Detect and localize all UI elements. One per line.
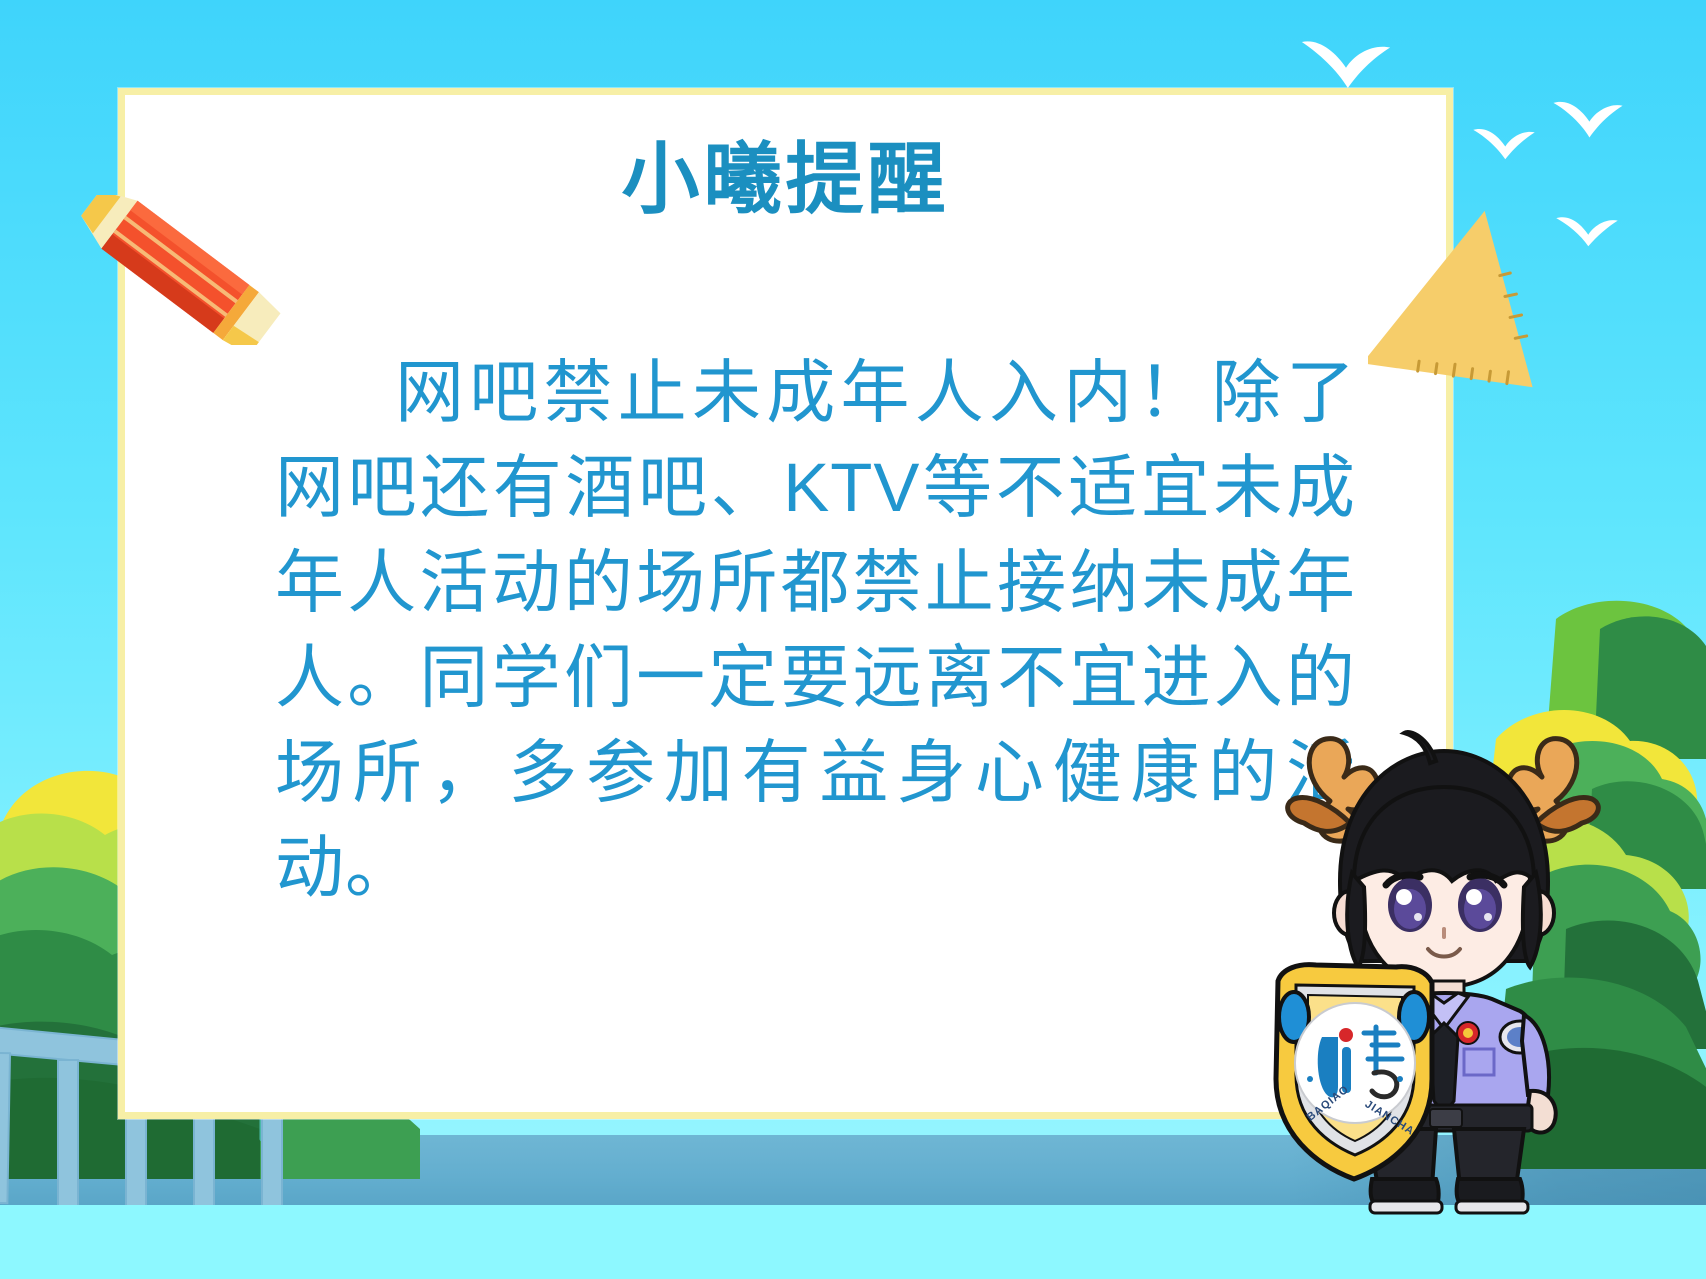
deer-antler-prosecutor-mascot: BAQIAO JIANCHA [1268, 681, 1618, 1221]
body-text: 网吧禁止未成年人入内！除了网吧还有酒吧、KTV等不适宜未成年人活动的场所都禁止接… [275, 345, 1356, 915]
poster-canvas: 小曦提醒 网吧禁止未成年人入内！除了网吧还有酒吧、KTV等不适宜未成年人活动的场… [0, 0, 1706, 1279]
bird-icon [1552, 95, 1624, 141]
bird-icon [1555, 208, 1619, 250]
content-card: 小曦提醒 网吧禁止未成年人入内！除了网吧还有酒吧、KTV等不适宜未成年人活动的场… [118, 88, 1453, 1119]
page-title: 小曦提醒 [125, 141, 1446, 219]
pencil-icon [58, 195, 298, 345]
bird-icon [1300, 36, 1392, 94]
triangle-ruler-icon [1368, 200, 1548, 400]
bird-icon [1472, 122, 1536, 162]
